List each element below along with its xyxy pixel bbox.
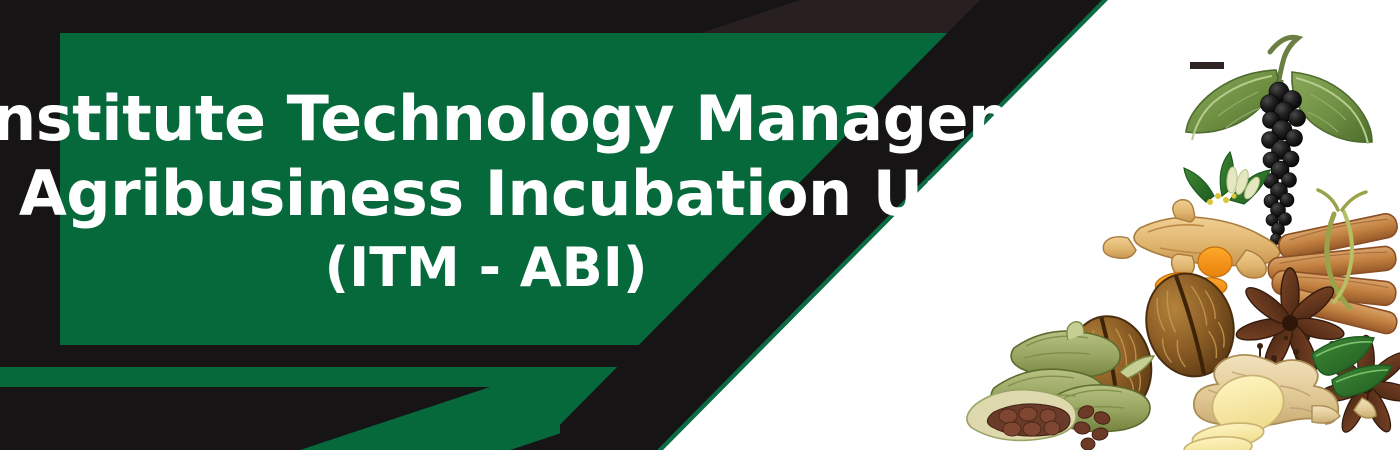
banner: Institute Technology Management Agribusi… bbox=[0, 0, 1400, 450]
spice-illustration-cluster bbox=[960, 0, 1400, 450]
